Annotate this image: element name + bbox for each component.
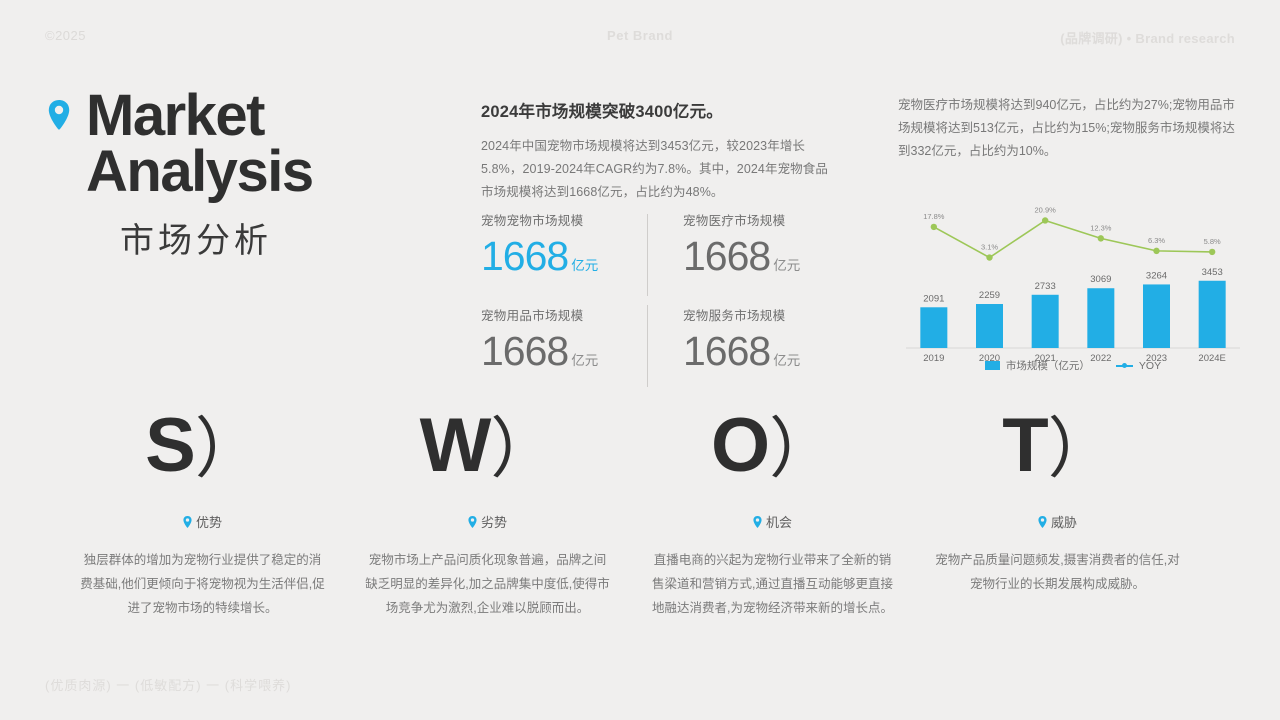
swot-description: 宠物市场上产品问质化现象普遍，品牌之间缺乏明显的差异化,加之品牌集中度低,使得市… — [345, 549, 630, 620]
market-overview-block: 2024年市场规模突破3400亿元。 2024年中国宠物市场规模将达到3453亿… — [481, 98, 833, 204]
swot-paren: ） — [195, 411, 260, 485]
line-value-label: 3.1% — [981, 243, 998, 252]
swot-letter-text: W — [420, 403, 491, 488]
section-label: (品牌调研) • Brand research — [1060, 28, 1235, 47]
line-value-label: 6.3% — [1148, 236, 1165, 245]
swot-tag-label: 劣势 — [481, 512, 507, 531]
market-size-chart[interactable]: 2091201922592020273320213069202232642023… — [898, 196, 1248, 382]
swot-paren: ） — [1048, 411, 1113, 485]
swot-card-threats[interactable]: T） 威胁 宠物产品质量问题频发,摄害消费者的信任,对宠物行业的长期发展构成威胁… — [915, 408, 1200, 620]
swot-paren: ） — [490, 411, 555, 485]
stat-card-pet-medical[interactable]: 宠物医疗市场规模 1668亿元 — [657, 210, 833, 280]
stat-unit: 亿元 — [773, 353, 800, 368]
swot-description: 直播电商的兴起为宠物行业带来了全新的销售梁道和营销方式,通过直播互动能够更直接地… — [630, 549, 915, 620]
bar-value-label: 3453 — [1202, 267, 1223, 278]
bar-value-label: 2091 — [923, 293, 944, 304]
swot-tag: 劣势 — [345, 512, 630, 531]
legend-swatch-icon — [985, 361, 1000, 370]
swot-description: 宠物产品质量问题频发,摄害消费者的信任,对宠物行业的长期发展构成威胁。 — [915, 549, 1200, 597]
segment-breakdown-block: 宠物医疗市场规模将达到940亿元，占比约为27%;宠物用品市场规模将达到513亿… — [898, 94, 1246, 163]
page-title: Market Analysis 市场分析 — [48, 88, 428, 262]
stat-label: 宠物服务市场规模 — [683, 305, 821, 324]
stat-label: 宠物用品市场规模 — [481, 305, 645, 324]
footer-tagline: (优质肉源) 一 (低敏配方) 一 (科学喂养) — [45, 675, 291, 694]
stat-value: 1668 — [481, 233, 568, 279]
stat-row: 宠物宠物市场规模 1668亿元 宠物医疗市场规模 1668亿元 — [481, 210, 833, 280]
legend-item-bar[interactable]: 市场规模（亿元） — [985, 358, 1090, 373]
top-bar: ©2025 Pet Brand (品牌调研) • Brand research — [0, 28, 1280, 54]
location-pin-icon — [753, 516, 762, 528]
swot-card-opportunities[interactable]: O） 机会 直播电商的兴起为宠物行业带来了全新的销售梁道和营销方式,通过直播互动… — [630, 408, 915, 620]
location-pin-icon — [468, 516, 477, 528]
chart-legend: 市场规模（亿元） YOY — [898, 358, 1248, 373]
stat-row: 宠物用品市场规模 1668亿元 宠物服务市场规模 1668亿元 — [481, 305, 833, 375]
location-pin-icon — [1038, 516, 1047, 528]
swot-section: S） 优势 独层群体的增加为宠物行业提供了稳定的消费基础,他们更倾向于将宠物视为… — [0, 408, 1280, 620]
swot-tag-label: 威胁 — [1051, 512, 1077, 531]
bar-value-label: 3069 — [1090, 274, 1111, 285]
stat-label: 宠物医疗市场规模 — [683, 210, 821, 229]
stat-value: 1668 — [683, 233, 770, 279]
swot-letter-text: O — [711, 403, 769, 488]
stat-label: 宠物宠物市场规模 — [481, 210, 645, 229]
bar-value-label: 2733 — [1035, 281, 1056, 292]
stat-value: 1668 — [481, 328, 568, 374]
legend-label: YOY — [1139, 360, 1161, 372]
swot-tag-label: 优势 — [196, 512, 222, 531]
swot-card-strengths[interactable]: S） 优势 独层群体的增加为宠物行业提供了稳定的消费基础,他们更倾向于将宠物视为… — [60, 408, 345, 620]
swot-card-weaknesses[interactable]: W） 劣势 宠物市场上产品问质化现象普遍，品牌之间缺乏明显的差异化,加之品牌集中… — [345, 408, 630, 620]
swot-letter: T） — [915, 408, 1200, 484]
swot-letter: O） — [630, 408, 915, 484]
stat-unit: 亿元 — [571, 353, 598, 368]
stat-unit: 亿元 — [773, 258, 800, 273]
line-value-label: 12.3% — [1090, 223, 1112, 232]
market-overview-body: 2024年中国宠物市场规模将达到3453亿元，较2023年增长5.8%，2019… — [481, 135, 833, 204]
swot-paren: ） — [769, 411, 834, 485]
location-pin-icon — [48, 100, 70, 130]
swot-letter: W） — [345, 408, 630, 484]
swot-tag: 机会 — [630, 512, 915, 531]
swot-letter-text: S — [145, 403, 195, 488]
title-line-1: Market — [86, 88, 428, 144]
line-value-label: 17.8% — [923, 212, 945, 221]
legend-line-icon — [1116, 361, 1133, 370]
swot-tag: 优势 — [60, 512, 345, 531]
location-pin-icon — [183, 516, 192, 528]
title-line-2: Analysis — [86, 144, 428, 200]
stat-value: 1668 — [683, 328, 770, 374]
bar-value-label: 3264 — [1146, 270, 1167, 281]
swot-letter: S） — [60, 408, 345, 484]
stat-card-pet-services[interactable]: 宠物服务市场规模 1668亿元 — [657, 305, 833, 375]
line-value-label: 5.8% — [1204, 237, 1221, 246]
stat-cards: 宠物宠物市场规模 1668亿元 宠物医疗市场规模 1668亿元 宠物用品市场规模… — [481, 210, 833, 375]
legend-label: 市场规模（亿元） — [1006, 358, 1090, 373]
legend-item-line[interactable]: YOY — [1116, 360, 1161, 372]
segment-breakdown-body: 宠物医疗市场规模将达到940亿元，占比约为27%;宠物用品市场规模将达到513亿… — [898, 94, 1246, 163]
swot-description: 独层群体的增加为宠物行业提供了稳定的消费基础,他们更倾向于将宠物视为生活伴侣,促… — [60, 549, 345, 620]
swot-tag-label: 机会 — [766, 512, 792, 531]
market-overview-heading: 2024年市场规模突破3400亿元。 — [481, 98, 833, 122]
stat-card-pet-supplies[interactable]: 宠物用品市场规模 1668亿元 — [481, 305, 657, 375]
bar-value-label: 2259 — [979, 290, 1000, 301]
line-value-label: 20.9% — [1035, 205, 1057, 214]
swot-letter-text: T — [1002, 403, 1047, 488]
stat-unit: 亿元 — [571, 258, 598, 273]
stat-card-pet-food[interactable]: 宠物宠物市场规模 1668亿元 — [481, 210, 657, 280]
title-subtitle: 市场分析 — [120, 213, 428, 262]
swot-tag: 威胁 — [915, 512, 1200, 531]
